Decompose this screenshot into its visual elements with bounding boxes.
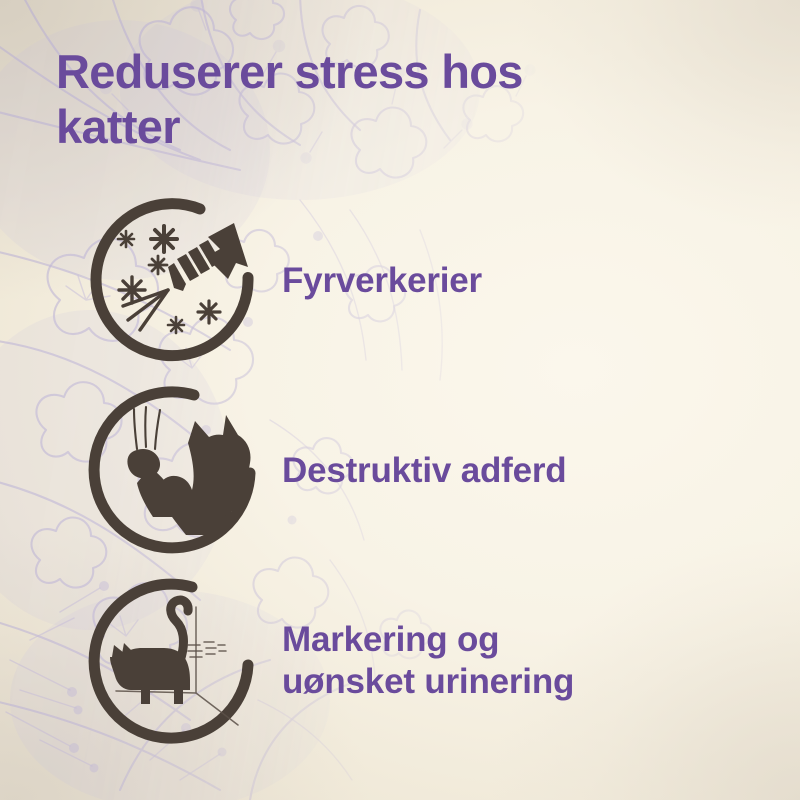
- stress-reduction-poster: Reduserer stress hos katter: [0, 0, 800, 800]
- list-item-label: Fyrverkerier: [282, 260, 482, 302]
- page-title: Reduserer stress hos katter: [56, 44, 696, 155]
- cat-scratching-icon: [88, 383, 264, 559]
- list-item: Destruktiv adferd: [0, 376, 800, 566]
- list-item: Fyrverkerier: [0, 186, 800, 376]
- list-item: Markering og uønsket urinering: [0, 566, 800, 756]
- firework-rocket-icon: [88, 193, 264, 369]
- cat-spraying-icon: [88, 573, 264, 749]
- list-item-label: Destruktiv adferd: [282, 450, 566, 492]
- stress-trigger-list: Fyrverkerier: [0, 186, 800, 756]
- list-item-label: Markering og uønsket urinering: [282, 619, 574, 703]
